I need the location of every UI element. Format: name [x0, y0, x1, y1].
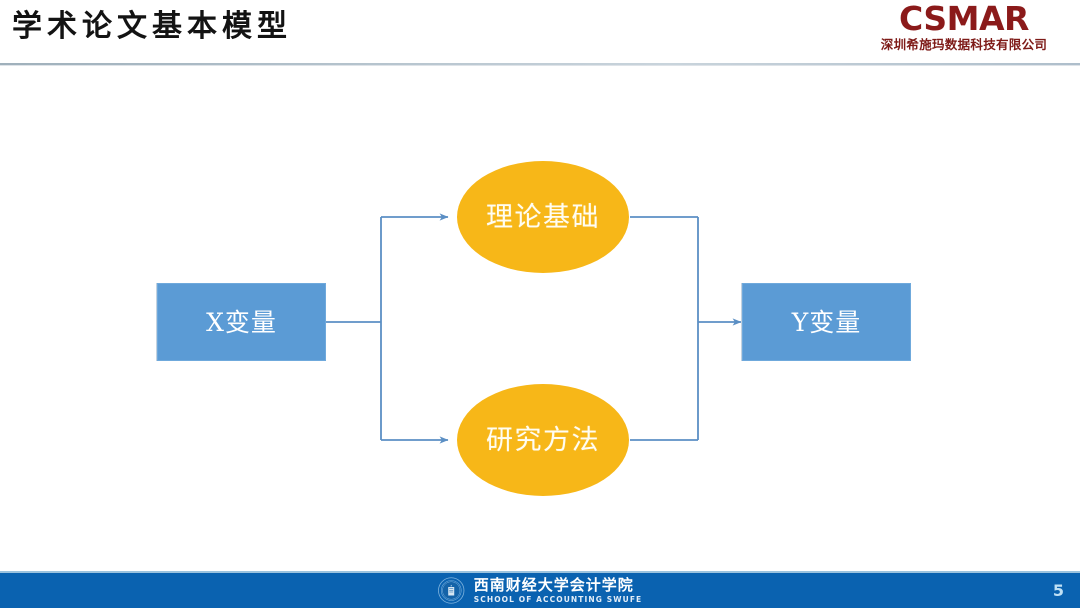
slide-root: 学术论文基本模型 CSMAR 深圳希施玛数据科技有限公司: [0, 0, 1080, 608]
csmar-logo: CSMAR 深圳希施玛数据科技有限公司: [858, 2, 1070, 53]
page-title: 学术论文基本模型: [12, 4, 292, 50]
node-theoretical-foundation[interactable]: 理论基础: [457, 161, 629, 273]
slide-header: 学术论文基本模型 CSMAR 深圳希施玛数据科技有限公司: [0, 0, 1080, 64]
footer-org-text: 西南财经大学会计学院 SCHOOL OF ACCOUNTING SWUFE: [474, 578, 643, 604]
node-x-variable-label: X变量: [206, 310, 277, 335]
swufe-seal-icon: [438, 577, 465, 604]
node-research-method[interactable]: 研究方法: [457, 384, 629, 496]
page-number: 5: [1053, 573, 1064, 608]
footer-organization-en: SCHOOL OF ACCOUNTING SWUFE: [474, 596, 643, 604]
node-research-method-label: 研究方法: [486, 427, 600, 454]
edge-x-to-branch: [326, 217, 381, 440]
slide-footer: 西南财经大学会计学院 SCHOOL OF ACCOUNTING SWUFE 5: [0, 573, 1080, 608]
edge-ellipses-to-merge: [630, 217, 698, 440]
node-y-variable-label: Y变量: [792, 310, 862, 335]
flowchart-diagram: X变量 理论基础 研究方法 Y变量: [0, 66, 1080, 573]
footer-organization-cn: 西南财经大学会计学院: [474, 578, 643, 593]
csmar-wordmark: CSMAR: [858, 2, 1070, 36]
node-y-variable[interactable]: Y变量: [742, 283, 911, 361]
csmar-company-name: 深圳希施玛数据科技有限公司: [858, 37, 1070, 53]
node-theoretical-foundation-label: 理论基础: [486, 204, 600, 231]
slide-body: X变量 理论基础 研究方法 Y变量: [0, 66, 1080, 573]
swufe-footer-brand: 西南财经大学会计学院 SCHOOL OF ACCOUNTING SWUFE: [438, 573, 643, 608]
node-x-variable[interactable]: X变量: [157, 283, 326, 361]
